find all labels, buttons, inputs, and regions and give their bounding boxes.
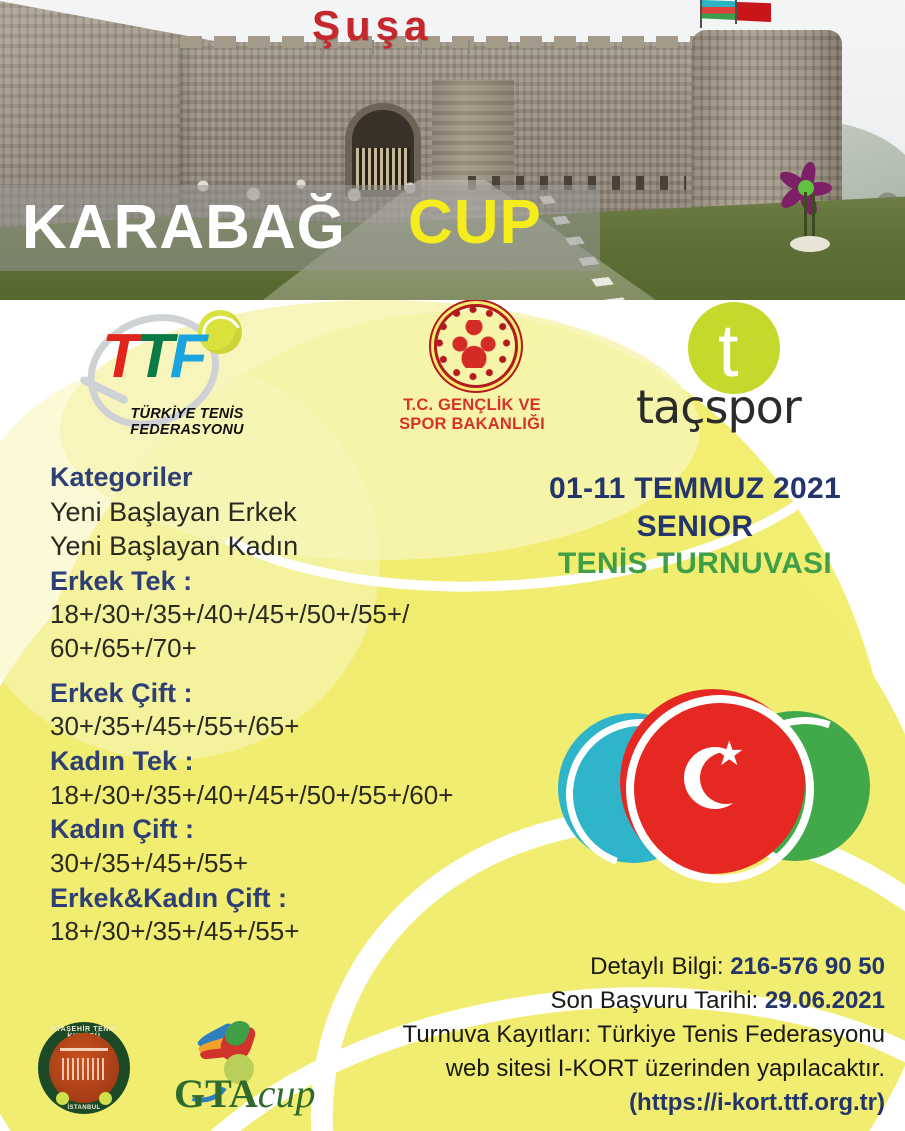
registration-line-1: Turnuva Kayıtları: Türkiye Tenis Federas…: [320, 1018, 885, 1052]
tennis-ball-icon: [198, 310, 242, 354]
category-plain-line: Yeni Başlayan Kadın: [50, 529, 520, 564]
sign-post: [372, 40, 374, 56]
club-ball-icon-left: [56, 1092, 69, 1105]
event-date-block: 01-11 TEMMUZ 2021 SENIOR TENİS TURNUVASI: [500, 470, 890, 583]
turkey-flag-icon: [737, 2, 771, 22]
phone-value: 216-576 90 50: [730, 953, 885, 980]
ministry-figures-icon: [452, 320, 496, 368]
category-values: 18+/30+/35+/40+/45+/50+/55+/60+: [50, 779, 520, 813]
gtacup-word-bold: GTA: [174, 1071, 258, 1116]
categories-block: Kategoriler Yeni Başlayan Erkek Yeni Baş…: [50, 460, 520, 949]
sign-post: [468, 40, 470, 56]
phone-label: Detaylı Bilgi:: [590, 953, 730, 980]
ministry-caption-line-1: T.C. GENÇLİK VE: [372, 396, 572, 415]
deadline-line: Son Başvuru Tarihi: 29.06.2021: [320, 984, 885, 1018]
tennis-balls-graphic: ★: [548, 685, 878, 885]
ttf-logo: TTF TÜRKİYE TENİS FEDERASYONU: [72, 308, 302, 438]
event-level: SENIOR: [500, 508, 890, 546]
gtacup-wordmark: GTAcup: [174, 1074, 315, 1114]
gtacup-logo: GTAcup: [168, 1018, 338, 1118]
tacspor-wordmark: taçspor: [636, 380, 866, 434]
deadline-label: Son Başvuru Tarihi:: [551, 987, 765, 1014]
flagpole-azerbaijan: [700, 0, 702, 28]
category-plain-line: Yeni Başlayan Erkek: [50, 495, 520, 530]
ministry-logo-caption: T.C. GENÇLİK VE SPOR BAKANLIĞI: [372, 396, 572, 435]
tournament-poster: Şuşa KARABAĞ CUP TTF TÜRKİYE TENİS FEDER: [0, 0, 905, 1131]
sign-post: [420, 40, 422, 56]
fortress-photo-banner: Şuşa KARABAĞ CUP: [0, 0, 905, 300]
contact-info-block: Detaylı Bilgi: 216-576 90 50 Son Başvuru…: [320, 950, 885, 1120]
ttf-logo-caption: TÜRKİYE TENİS FEDERASYONU: [72, 406, 302, 438]
tacspor-logo: t taçspor: [640, 302, 860, 442]
poster-body: TTF TÜRKİYE TENİS FEDERASYONU T.C. GENÇL…: [0, 300, 905, 1131]
flagpole-turkey: [735, 0, 737, 24]
club-name-bottom: İSTANBUL: [38, 1105, 130, 1111]
category-values: 30+/35+/45+/55+: [50, 847, 520, 881]
category-values: 30+/35+/45+/55+/65+: [50, 710, 520, 744]
category-values: 18+/30+/35+/40+/45+/50+/55+/: [50, 598, 520, 632]
fortress-merlons: [180, 36, 740, 48]
category-label-kadin-cift: Kadın Çift :: [50, 812, 520, 847]
tacspor-monogram: t: [718, 314, 739, 388]
sign-post: [322, 40, 324, 56]
ttf-monogram: TTF: [102, 326, 204, 388]
pinwheel-sculpture: [782, 168, 838, 230]
registration-url[interactable]: (https://i-kort.ttf.org.tr): [320, 1086, 885, 1120]
azerbaijan-flag-icon: [702, 0, 736, 20]
bridge-icon: [62, 1058, 106, 1080]
atasehir-tennis-club-logo: ATAŞEHİR TENİS KULÜBÜ İSTANBUL: [38, 1022, 130, 1114]
deadline-value: 29.06.2021: [765, 987, 885, 1014]
event-type: TENİS TURNUVASI: [500, 545, 890, 583]
club-ball-icon-right: [99, 1092, 112, 1105]
categories-heading: Kategoriler: [50, 460, 520, 495]
gtacup-word-italic: cup: [258, 1071, 316, 1116]
category-label-kadin-tek: Kadın Tek :: [50, 744, 520, 779]
ministry-caption-line-2: SPOR BAKANLIĞI: [372, 415, 572, 434]
category-label-erkek-cift: Erkek Çift :: [50, 676, 520, 711]
category-values: 18+/30+/35+/45+/55+: [50, 915, 520, 949]
sponsor-logo-row: TTF TÜRKİYE TENİS FEDERASYONU T.C. GENÇL…: [0, 300, 905, 445]
category-values: 60+/65+/70+: [50, 632, 520, 666]
ministry-logo: T.C. GENÇLİK VE SPOR BAKANLIĞI: [382, 304, 562, 439]
poster-title-main: KARABAĞ: [22, 197, 346, 259]
registration-line-2: web sitesi I-KORT üzerinden yapılacaktır…: [320, 1052, 885, 1086]
category-label-erkek-kadin-cift: Erkek&Kadın Çift :: [50, 881, 520, 916]
poster-title-accent: CUP: [408, 192, 542, 254]
category-label-erkek-tek: Erkek Tek :: [50, 564, 520, 599]
event-dates: 01-11 TEMMUZ 2021: [500, 470, 890, 508]
phone-line: Detaylı Bilgi: 216-576 90 50: [320, 950, 885, 984]
